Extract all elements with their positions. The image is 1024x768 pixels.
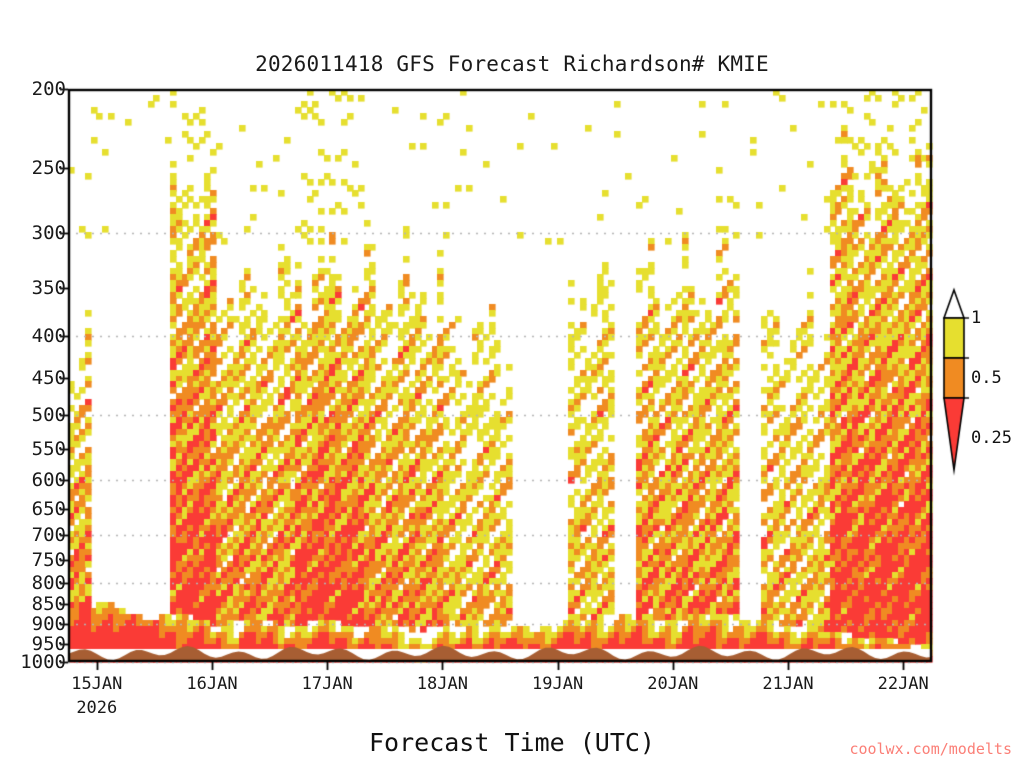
colorbar-tick-0.5: 0.5 bbox=[971, 368, 1002, 388]
colorbar-tick-1: 1 bbox=[971, 308, 981, 328]
colorbar-tick-0.25: 0.25 bbox=[971, 428, 1012, 448]
colorbar-tick-labels: 10.50.25 bbox=[0, 0, 1024, 768]
watermark-credit: coolwx.com/modelts bbox=[849, 740, 1012, 758]
chart-root: 2026011418 GFS Forecast Richardson# KMIE… bbox=[0, 0, 1024, 768]
